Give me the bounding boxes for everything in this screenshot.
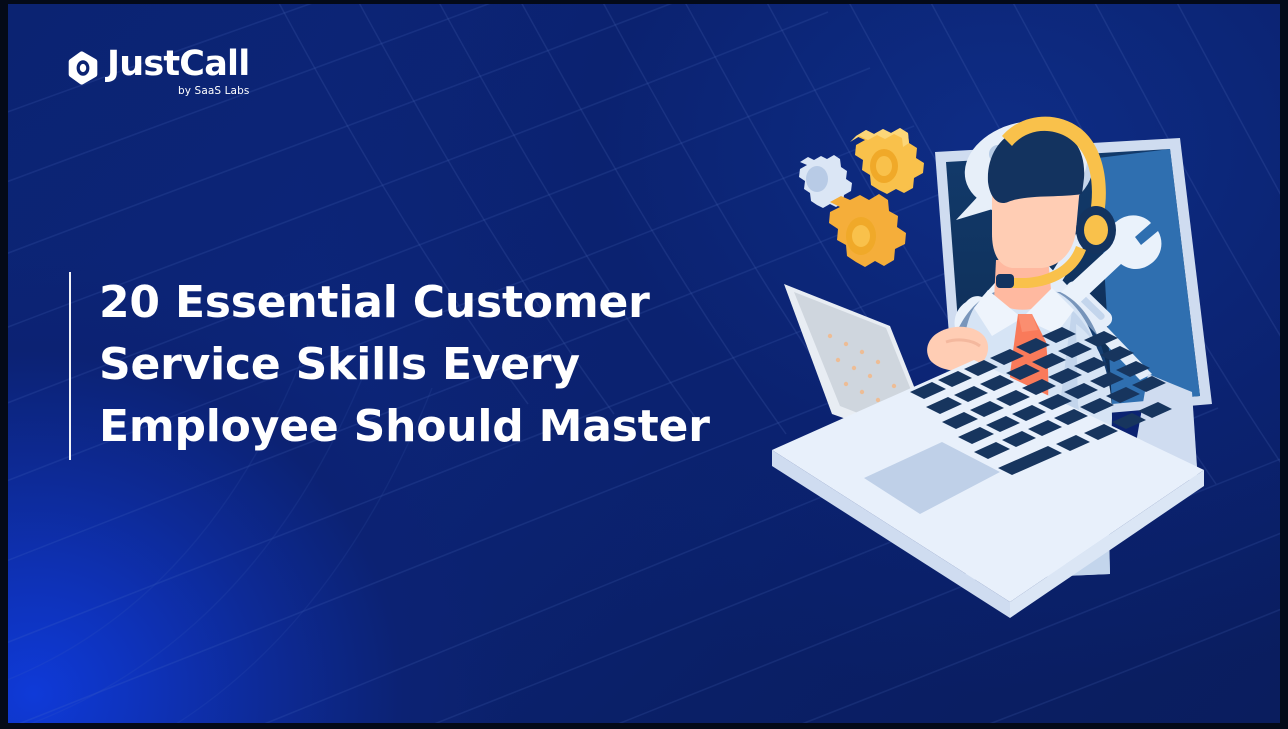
logo-wordmark: JustCall — [107, 46, 249, 82]
justcall-logo[interactable]: JustCall by SaaS Labs — [68, 46, 249, 97]
hero-illustration — [760, 74, 1280, 654]
headline-accent-bar — [69, 272, 71, 460]
gear-orange-lower-icon — [829, 194, 906, 267]
gears-cluster — [799, 128, 924, 267]
page-title: 20 Essential Customer Service Skills Eve… — [99, 272, 710, 460]
headset-mic — [996, 274, 1014, 288]
banner-frame: JustCall by SaaS Labs 20 Essential Custo… — [0, 0, 1288, 729]
headline-block: 20 Essential Customer Service Skills Eve… — [69, 272, 710, 460]
justcall-hexagon-mark — [68, 51, 98, 85]
support-agent-scene — [760, 74, 1280, 654]
banner-canvas: JustCall by SaaS Labs 20 Essential Custo… — [8, 4, 1280, 723]
logo-text-block: JustCall by SaaS Labs — [107, 46, 249, 97]
logo-tagline: by SaaS Labs — [107, 85, 249, 97]
gear-orange-upper-icon — [850, 128, 924, 194]
